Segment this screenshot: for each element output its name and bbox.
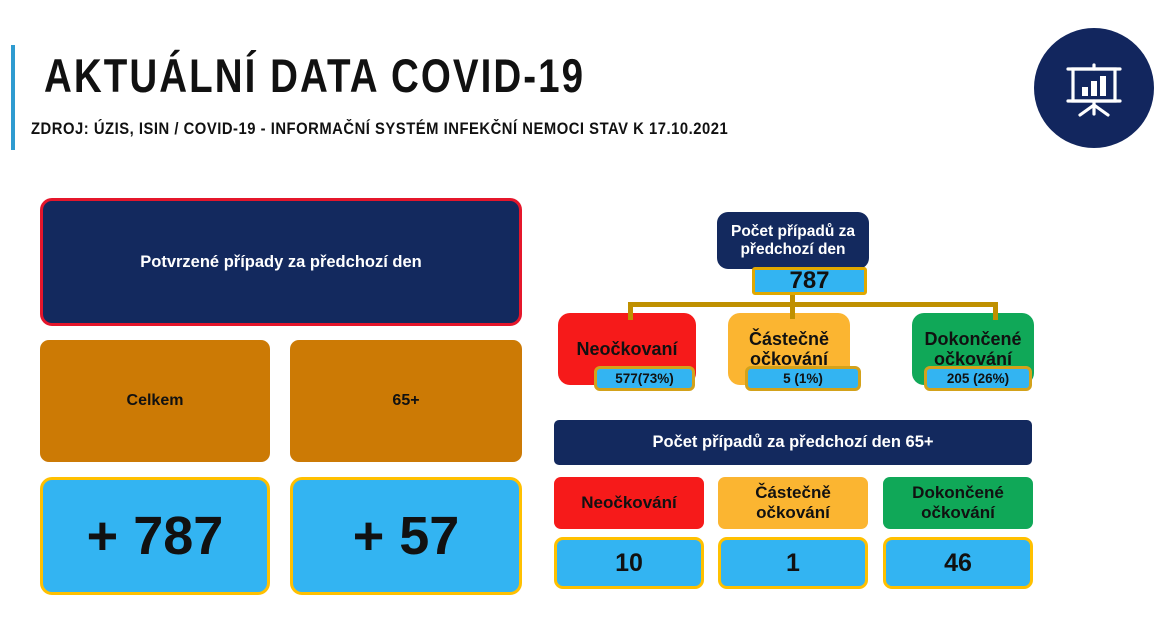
- elderly-label-complete: Dokončené očkování: [883, 477, 1033, 529]
- tree-node-unvaccinated-badge: 577(73%): [594, 366, 695, 391]
- summary-value-65plus-text: + 57: [293, 505, 519, 567]
- elderly-label-unvaccinated: Neočkování: [554, 477, 704, 529]
- title-accent-bar: [11, 45, 15, 150]
- elderly-value-unvaccinated-text: 10: [557, 549, 701, 578]
- page-title: AKTUÁLNÍ DATA COVID-19: [44, 50, 585, 102]
- elderly-label-partial: Částečně očkování: [718, 477, 868, 529]
- tree-node-complete-badge-text: 205 (26%): [947, 371, 1009, 386]
- tree-root-value-text: 787: [789, 267, 829, 295]
- elderly-value-partial: 1: [718, 537, 868, 589]
- page-subtitle: ZDROJ: ÚZIS, ISIN / COVID-19 - INFORMAČN…: [31, 119, 728, 139]
- tree-node-unvaccinated-badge-text: 577(73%): [615, 371, 674, 386]
- elderly-value-complete: 46: [883, 537, 1033, 589]
- tree-root-title-line2: předchozí den: [740, 241, 845, 258]
- summary-value-total: + 787: [40, 477, 270, 595]
- elderly-heading-box: Počet případů za předchozí den 65+: [554, 420, 1032, 465]
- summary-label-total: Celkem: [40, 340, 270, 462]
- summary-label-65plus: 65+: [290, 340, 522, 462]
- tree-node-complete-badge: 205 (26%): [924, 366, 1032, 391]
- tree-connector-drop-right: [993, 302, 998, 320]
- elderly-label-partial-line1: Částečně: [755, 483, 831, 502]
- logo-badge: [1034, 28, 1154, 148]
- elderly-label-unvaccinated-text: Neočkování: [554, 493, 704, 513]
- elderly-value-partial-text: 1: [721, 549, 865, 578]
- elderly-label-complete-line1: Dokončené: [912, 483, 1004, 502]
- tree-root-box: Počet případů za předchozí den: [717, 212, 869, 269]
- tree-node-partial-badge: 5 (1%): [745, 366, 861, 391]
- summary-value-65plus: + 57: [290, 477, 522, 595]
- summary-label-total-text: Celkem: [40, 392, 270, 410]
- slide-canvas: AKTUÁLNÍ DATA COVID-19 ZDROJ: ÚZIS, ISIN…: [0, 0, 1164, 624]
- tree-node-partial-label-line1: Částečně: [749, 329, 829, 349]
- elderly-label-partial-line2: očkování: [756, 503, 830, 522]
- elderly-value-unvaccinated: 10: [554, 537, 704, 589]
- tree-node-partial-badge-text: 5 (1%): [783, 371, 823, 386]
- tree-root-value-badge: 787: [752, 267, 867, 295]
- presentation-chart-icon: [1062, 56, 1126, 120]
- summary-value-total-text: + 787: [43, 505, 267, 567]
- tree-connector-drop-left: [628, 302, 633, 320]
- tree-node-unvaccinated-label: Neočkovaní: [558, 339, 696, 359]
- summary-label-65plus-text: 65+: [290, 392, 522, 410]
- summary-heading-box: Potvrzené případy za předchozí den: [40, 198, 522, 326]
- elderly-label-complete-line2: očkování: [921, 503, 995, 522]
- elderly-heading-label: Počet případů za předchozí den 65+: [554, 433, 1032, 452]
- summary-heading-label: Potvrzené případy za předchozí den: [43, 253, 519, 272]
- tree-connector-horizontal: [628, 302, 998, 307]
- elderly-value-complete-text: 46: [886, 549, 1030, 578]
- tree-node-complete-label-line1: Dokončené: [924, 329, 1021, 349]
- tree-root-title-line1: Počet případů za: [731, 223, 855, 240]
